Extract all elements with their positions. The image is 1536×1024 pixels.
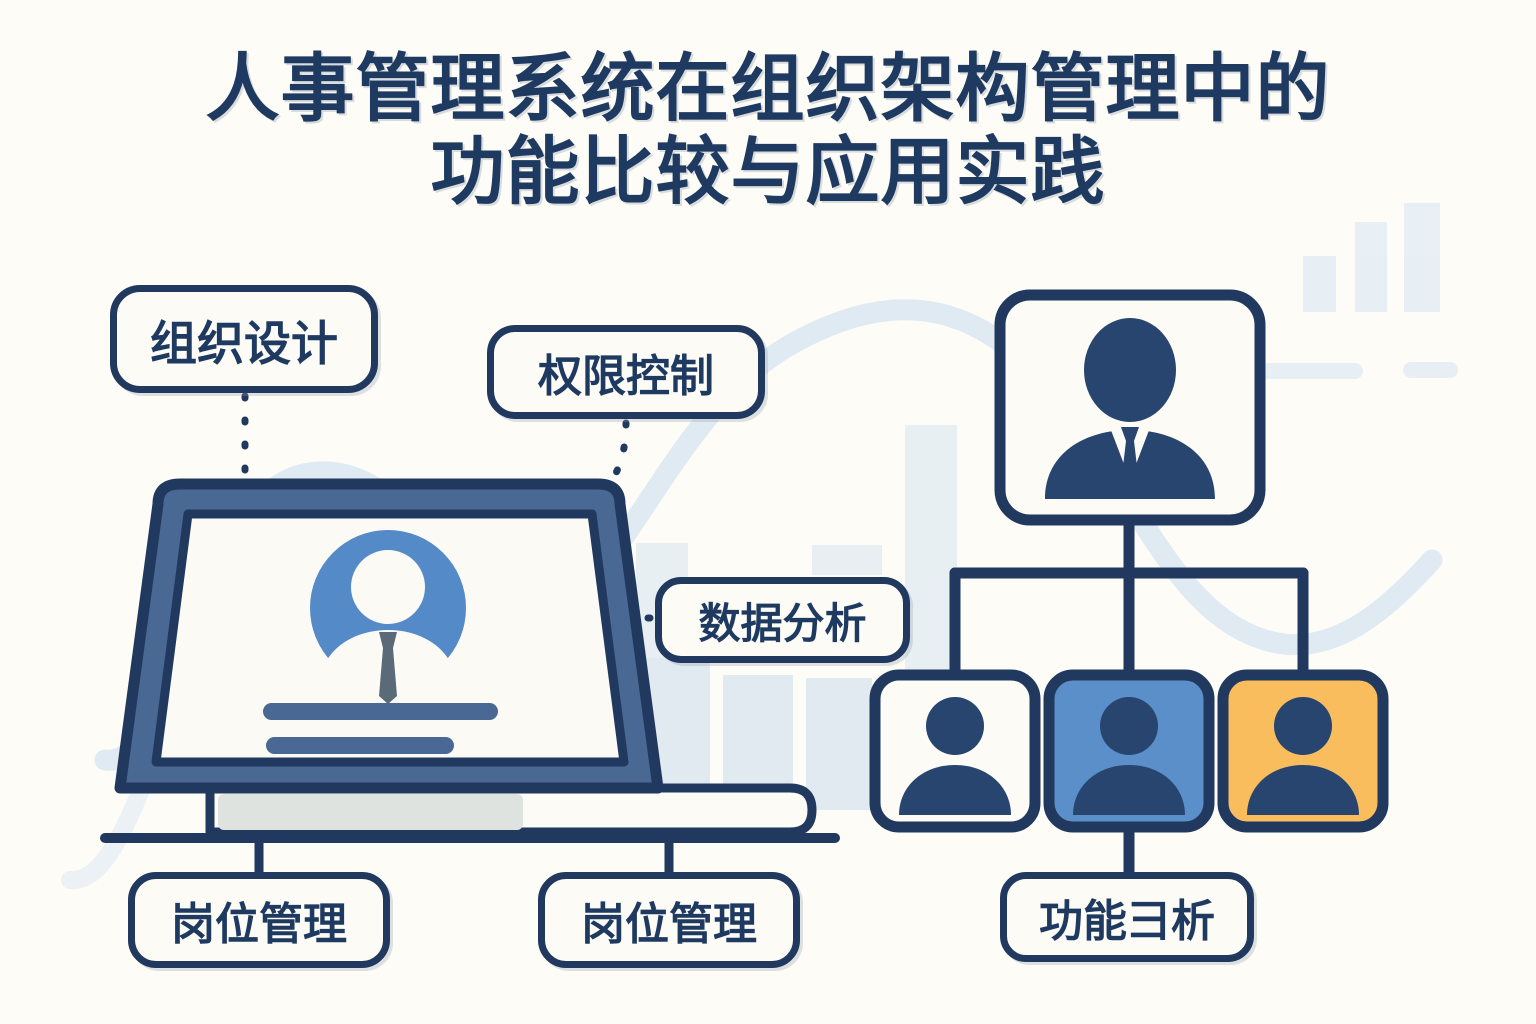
callout-org-design[interactable]: 组织设计: [110, 285, 378, 393]
callout-permission-control[interactable]: 权限控制: [487, 325, 765, 419]
screen-field-bar-1: [263, 703, 498, 720]
page-title: 人事管理系统在组织架构管理中的 功能比较与应用实践: [0, 48, 1536, 214]
org-chart-illustration: [855, 275, 1475, 875]
callout-post-management-mid[interactable]: 岗位管理: [538, 872, 800, 968]
callout-function-analysis[interactable]: 功能⺕析: [1000, 872, 1254, 962]
title-line-2: 功能比较与应用实践: [0, 131, 1536, 214]
callout-post-management-left[interactable]: 岗位管理: [128, 872, 390, 968]
title-line-1: 人事管理系统在组织架构管理中的: [0, 48, 1536, 131]
callout-data-analysis[interactable]: 数据分析: [655, 577, 910, 663]
user-avatar-tie: [379, 632, 397, 704]
laptop-base-shadow: [218, 794, 523, 830]
infographic-canvas: 人事管理系统在组织架构管理中的 功能比较与应用实践: [0, 0, 1536, 1024]
screen-field-bar-2: [266, 737, 454, 754]
user-avatar-head: [351, 550, 425, 624]
laptop-illustration: [100, 470, 860, 860]
